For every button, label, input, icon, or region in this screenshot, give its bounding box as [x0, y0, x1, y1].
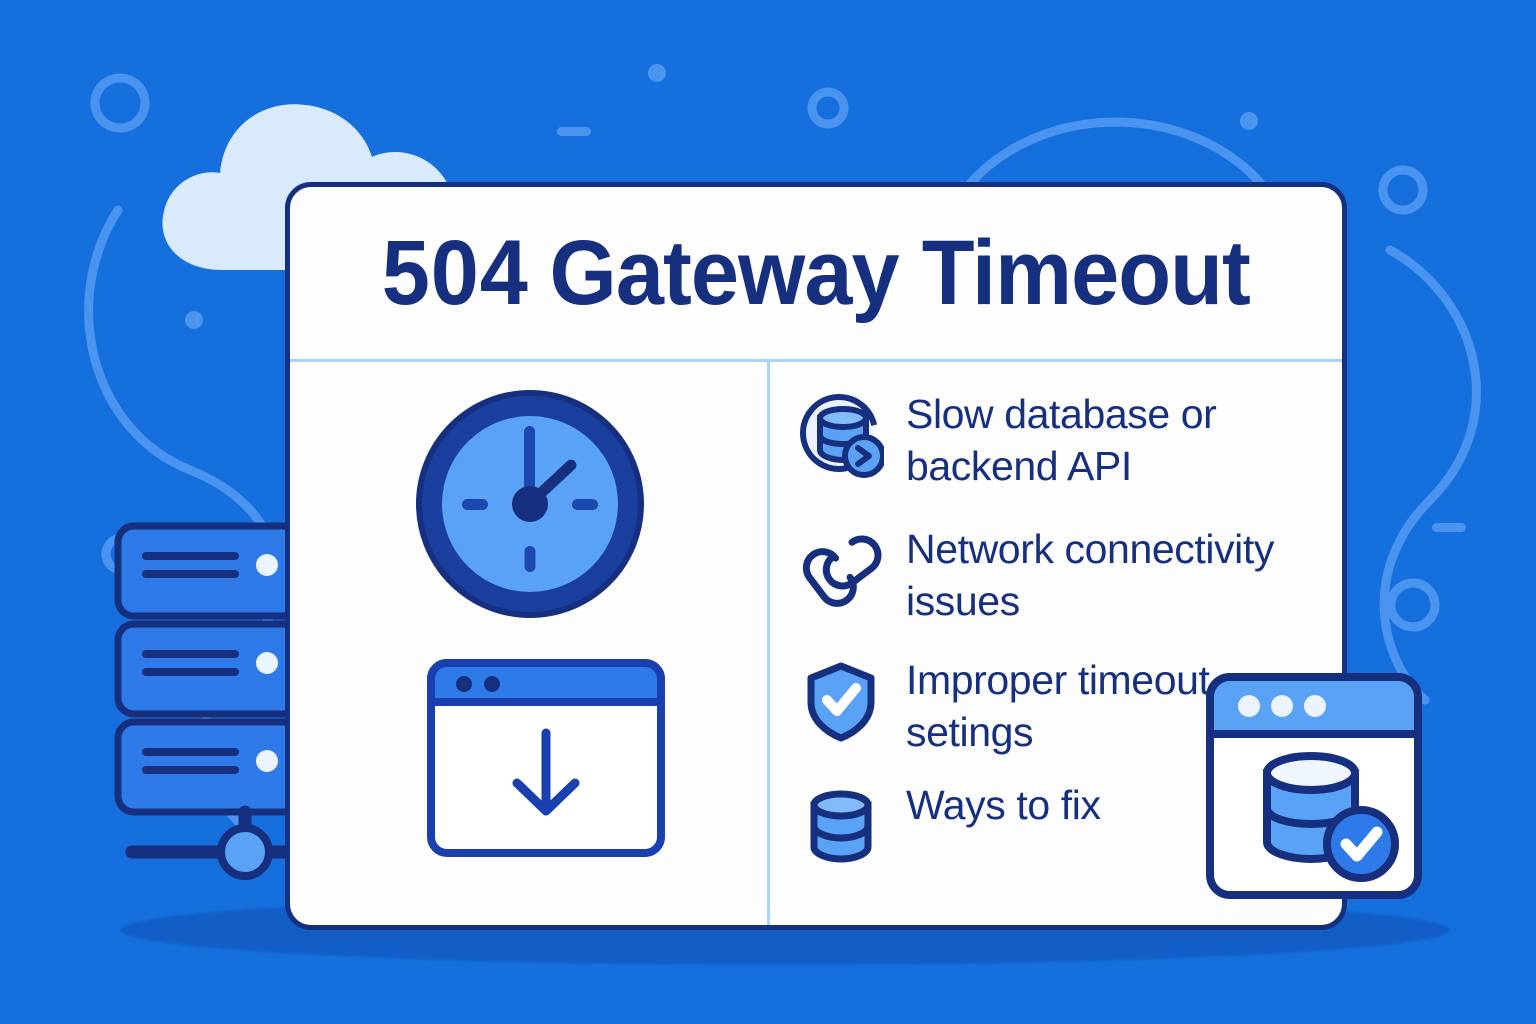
window-dot	[1238, 695, 1326, 717]
database-icon	[798, 783, 884, 869]
list-item-label: Network connectivity issues	[906, 523, 1296, 628]
error-title-text: Gateway Timeout	[550, 222, 1250, 324]
page-title: 504Gateway Timeout	[382, 221, 1250, 326]
bullet-icon	[798, 388, 884, 478]
browser-download-icon	[426, 658, 666, 858]
clock-icon	[410, 384, 650, 624]
list-item: Network connectivity issues	[798, 523, 1342, 628]
error-card: 504Gateway Timeout	[285, 182, 1347, 930]
bullet-icon	[798, 523, 884, 613]
browser-dot	[484, 676, 500, 692]
browser-dot	[456, 676, 472, 692]
list-item-label: Slow database or backend API	[906, 388, 1296, 493]
error-code: 504	[382, 222, 529, 324]
card-body: Slow database or backend API Network con…	[290, 362, 1342, 930]
shield-check-icon	[798, 658, 884, 744]
link-chain-icon	[798, 527, 884, 613]
list-item-label: Ways to fix	[906, 779, 1101, 831]
bullet-icon	[798, 779, 884, 869]
illustration-pane	[290, 362, 770, 930]
database-window-check-icon	[1205, 672, 1423, 900]
bullet-icon	[798, 654, 884, 744]
list-item: Slow database or backend API	[798, 388, 1342, 493]
card-title-area: 504Gateway Timeout	[290, 187, 1342, 362]
database-clock-icon	[798, 392, 884, 478]
